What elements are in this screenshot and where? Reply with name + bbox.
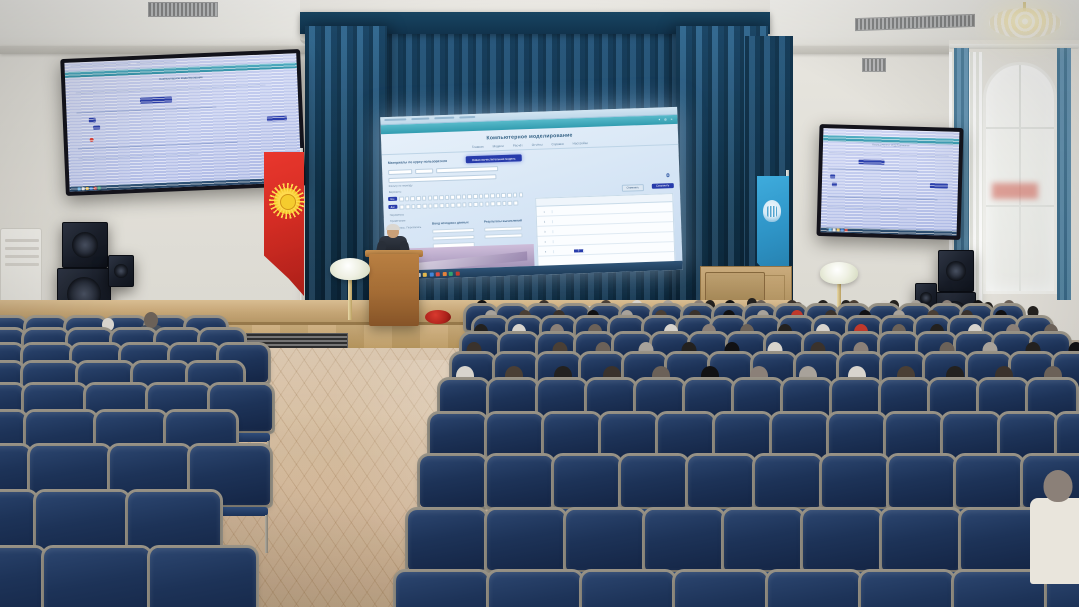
variant-row-a-label: Все xyxy=(388,197,397,201)
podium xyxy=(369,254,419,326)
selected-cell[interactable]: 0 xyxy=(574,249,584,252)
chair-back xyxy=(861,572,953,607)
chair-back xyxy=(487,414,543,458)
row-label: 2 xyxy=(537,220,553,224)
chair-back xyxy=(44,548,150,607)
chair-back xyxy=(420,456,486,507)
pa-speaker-left-side xyxy=(108,255,134,287)
save-button[interactable]: Сохранить xyxy=(651,183,674,189)
chair-back xyxy=(803,510,881,570)
flower-arrangement-left xyxy=(330,258,370,280)
col-left-input-2[interactable] xyxy=(432,235,474,240)
side-display-right: Компьютерное моделирование xyxy=(816,124,963,240)
gear-icon[interactable] xyxy=(666,173,670,177)
chair-back xyxy=(772,414,828,458)
chandelier-crystals xyxy=(989,8,1061,38)
chair-back xyxy=(768,572,860,607)
chair-back xyxy=(430,414,486,458)
window-drape-right xyxy=(1057,48,1071,300)
col-right-input-1[interactable] xyxy=(484,226,522,231)
chair-back xyxy=(0,548,44,607)
chair-back xyxy=(658,414,714,458)
mail-icon[interactable] xyxy=(436,272,440,276)
nav-item[interactable]: Главная xyxy=(472,145,484,149)
chair-back xyxy=(396,572,488,607)
chair-back xyxy=(889,456,955,507)
chair-back xyxy=(688,456,754,507)
institutional-emblem-icon xyxy=(763,200,781,222)
window-mullion-vertical xyxy=(1019,65,1021,291)
chair-back xyxy=(601,414,657,458)
browser-tabs xyxy=(384,115,475,121)
chair-back xyxy=(489,572,581,607)
page-subheading: Материалы по курсу пользователя xyxy=(388,159,447,165)
row-label: 3 xyxy=(537,230,553,234)
attendee-torso xyxy=(1030,498,1079,584)
nav-item[interactable]: Справка xyxy=(551,142,563,146)
nav-item[interactable]: Модели xyxy=(492,144,503,148)
auditorium-photo: ▾◍≡ Компьютерное моделирование Главная М… xyxy=(0,0,1079,607)
brand-right-icons: ▾◍≡ xyxy=(659,117,673,121)
chair-back xyxy=(755,456,821,507)
chair-back xyxy=(715,414,771,458)
new-model-button[interactable]: Новая вычислительная модель xyxy=(466,154,522,163)
chair-back xyxy=(956,456,1022,507)
window-outside-view xyxy=(992,183,1038,199)
chair-back xyxy=(150,548,256,607)
window-mullion-horizontal xyxy=(986,127,1054,129)
column-right-title: Результаты вычислений xyxy=(484,218,522,223)
projection-screen: ▾◍≡ Компьютерное моделирование Главная М… xyxy=(380,107,683,280)
variants-caption: Варианты xyxy=(389,191,402,194)
results-grid[interactable]: 1 2 3 4 xyxy=(535,193,675,268)
row-label: 1 xyxy=(537,210,553,214)
chair-back xyxy=(724,510,802,570)
pa-speaker-right-top xyxy=(938,250,974,292)
chair-back xyxy=(582,572,674,607)
chair-back xyxy=(1000,414,1056,458)
chandelier-icon xyxy=(989,2,1061,42)
col-left-input-1[interactable] xyxy=(432,228,474,233)
flower-arrangement-right xyxy=(820,262,858,284)
attendee-head xyxy=(144,312,158,328)
select-field-1[interactable] xyxy=(388,169,412,175)
col-right-input-2[interactable] xyxy=(484,233,522,238)
cancel-button[interactable]: Отменить xyxy=(621,184,644,192)
folder-icon[interactable] xyxy=(423,272,427,276)
column-left-title: Ввод исходных данных xyxy=(432,220,469,225)
media-icon[interactable] xyxy=(449,271,453,275)
chair-back xyxy=(886,414,942,458)
window-mullion-horizontal xyxy=(986,205,1054,207)
rose-bouquet-left xyxy=(425,310,451,324)
chair-back xyxy=(645,510,723,570)
chair-back xyxy=(566,510,644,570)
ceiling-vent-icon xyxy=(148,2,218,17)
chair-back xyxy=(621,456,687,507)
row-label: 5 xyxy=(538,250,554,254)
browser-icon[interactable] xyxy=(429,272,433,276)
section-params-label: Параметры xyxy=(390,213,404,216)
row-label: 4 xyxy=(538,240,554,244)
variant-row-b-label: Доп xyxy=(388,205,397,209)
variant-row-b[interactable]: Доп xyxy=(388,200,518,209)
pa-speaker-left-top xyxy=(62,222,108,268)
arched-window xyxy=(983,62,1057,294)
chair-back xyxy=(675,572,767,607)
select-field-2[interactable] xyxy=(415,168,433,174)
chair-back xyxy=(943,414,999,458)
nav-item[interactable]: Расчёт xyxy=(513,143,523,147)
chair-back xyxy=(882,510,960,570)
text-field-3[interactable] xyxy=(436,166,498,173)
chair-back xyxy=(408,510,486,570)
chair-back xyxy=(554,456,620,507)
audience-member xyxy=(1030,470,1079,590)
app-icon[interactable] xyxy=(455,271,459,275)
nav-item[interactable]: Отчёты xyxy=(532,143,543,147)
chair-back xyxy=(544,414,600,458)
wall-vent-small-icon xyxy=(862,58,886,72)
flower-stand-left xyxy=(348,276,352,320)
chair-back xyxy=(487,456,553,507)
chair-leg xyxy=(265,515,268,553)
side-display-right-panel: Компьютерное моделирование xyxy=(821,128,960,236)
chair-back xyxy=(961,510,1039,570)
chair-back xyxy=(829,414,885,458)
chair-back xyxy=(822,456,888,507)
filter-caption: Фильтр по периоду xyxy=(389,184,413,188)
store-icon[interactable] xyxy=(442,272,446,276)
attendee-head xyxy=(1044,470,1073,502)
note-label: Примечание xyxy=(390,219,406,223)
chair-back xyxy=(487,510,565,570)
sun-emblem-icon xyxy=(274,188,300,214)
text-field-wide[interactable] xyxy=(388,174,496,183)
side-display-right-taskbar xyxy=(821,227,957,236)
nav-item[interactable]: Настройки xyxy=(573,141,588,146)
chair-back xyxy=(1057,414,1079,458)
